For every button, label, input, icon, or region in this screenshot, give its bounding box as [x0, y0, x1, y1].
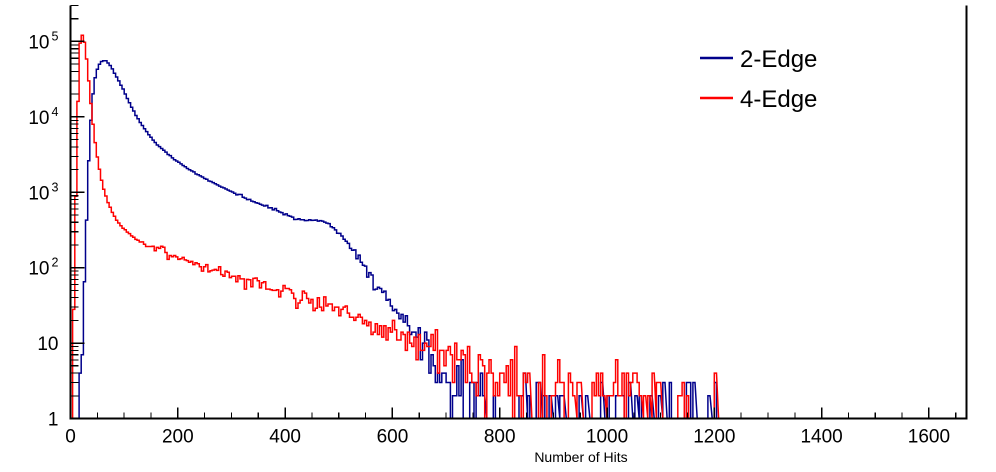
x-tick-label-1200: 1200 — [693, 427, 735, 448]
x-tick-label-200: 200 — [162, 427, 194, 448]
x-axis-title: Number of Hits — [534, 449, 627, 465]
x-tick-label-1000: 1000 — [586, 427, 628, 448]
y-tick-label-exponent-100: 2 — [52, 256, 59, 270]
y-tick-label-base-100000: 10 — [28, 32, 49, 53]
legend-label-2-edge: 2-Edge — [740, 46, 817, 73]
y-tick-label-10: 10 — [37, 334, 58, 355]
x-tick-label-400: 400 — [269, 427, 301, 448]
legend-label-4-edge: 4-Edge — [740, 86, 817, 113]
y-tick-label-exponent-1000: 3 — [52, 180, 59, 194]
y-tick-label-exponent-10000: 4 — [52, 105, 59, 119]
y-tick-label-base-10000: 10 — [28, 108, 49, 129]
y-tick-label-base-10: 10 — [37, 334, 58, 355]
x-tick-label-600: 600 — [377, 427, 409, 448]
x-tick-label-0: 0 — [65, 427, 76, 448]
chart-canvas: 0200400600800100012001400160011010210310… — [0, 0, 996, 472]
y-tick-label-base-100: 10 — [28, 259, 49, 280]
plot-background — [0, 0, 996, 472]
y-tick-label-1: 1 — [48, 410, 59, 431]
x-tick-label-800: 800 — [484, 427, 516, 448]
x-tick-label-1400: 1400 — [800, 427, 842, 448]
y-tick-label-base-1: 1 — [48, 410, 59, 431]
histogram-plot: 0200400600800100012001400160011010210310… — [0, 0, 996, 472]
y-tick-label-base-1000: 10 — [28, 183, 49, 204]
x-tick-label-1600: 1600 — [908, 427, 950, 448]
y-tick-label-exponent-100000: 5 — [52, 29, 59, 43]
